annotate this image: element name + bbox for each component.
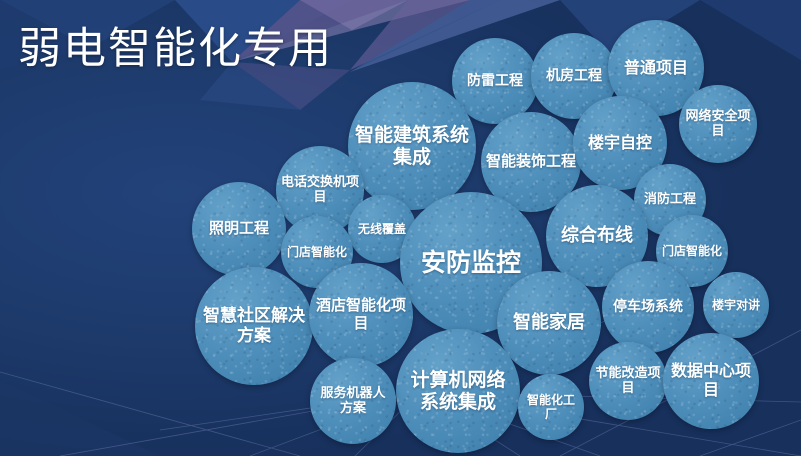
bubble-label: 智能建筑系统集成: [354, 124, 471, 169]
bubble-fuwu-jiqiren-fangan[interactable]: 服务机器人方案: [310, 358, 396, 444]
bubble-label: 机房工程: [535, 68, 612, 85]
bubble-label: 酒店智能化项目: [314, 297, 408, 332]
bubble-label: 无线覆盖: [352, 222, 412, 236]
bubble-label: 数据中心项目: [668, 362, 754, 400]
slide-canvas: 弱电智能化专用 防雷工程机房工程普通项目网络安全项目智能建筑系统集成智能装饰工程…: [0, 0, 801, 456]
bubble-tingchechang-xitong[interactable]: 停车场系统: [602, 261, 694, 353]
bubble-label: 停车场系统: [607, 299, 690, 316]
bubble-label: 电话交换机项目: [281, 175, 360, 206]
bubble-label: 普通项目: [613, 59, 699, 78]
bubble-label: 智能家居: [502, 312, 596, 333]
bubble-label: 计算机网络系统集成: [402, 369, 515, 414]
bubble-jisuanji-wangluo[interactable]: 计算机网络系统集成: [396, 329, 520, 453]
bubble-label: 消防工程: [638, 192, 702, 207]
bubble-label: 门店智能化: [660, 244, 724, 258]
bubble-label: 照明工程: [197, 220, 282, 238]
bubble-zhinenghua-gongchang[interactable]: 智能化工厂: [518, 374, 584, 440]
bubble-label: 防雷工程: [456, 73, 533, 90]
bubble-label: 楼宇自控: [578, 134, 663, 153]
bubble-zhineng-jianzhu-xitong[interactable]: 智能建筑系统集成: [348, 82, 476, 210]
bubble-label: 智能装饰工程: [486, 153, 576, 171]
bubble-shuju-zhongxin-xiangmu[interactable]: 数据中心项目: [663, 333, 759, 429]
page-title: 弱电智能化专用: [18, 26, 333, 73]
bubble-zhihui-shequ[interactable]: 智慧社区解决方案: [195, 267, 313, 385]
bubble-zhaoming-gongcheng[interactable]: 照明工程: [192, 182, 286, 276]
bubble-label: 门店智能化: [285, 245, 349, 259]
bubble-wangluo-anquan-xiangmu[interactable]: 网络安全项目: [679, 85, 757, 163]
bubble-label: 楼宇对讲: [707, 298, 765, 312]
bubble-label: 安防监控: [406, 248, 536, 278]
bubble-label: 服务机器人方案: [314, 386, 391, 417]
bubble-louyu-duijiang[interactable]: 楼宇对讲: [703, 272, 769, 338]
bubble-zhineng-jiaju[interactable]: 智能家居: [497, 271, 601, 375]
bubble-label: 综合布线: [551, 225, 643, 246]
bubble-label: 智慧社区解决方案: [200, 306, 307, 346]
bubble-jiudian-zhinenghua[interactable]: 酒店智能化项目: [309, 263, 413, 367]
bubble-jieneng-gaizao-xiangmu[interactable]: 节能改造项目: [589, 342, 667, 420]
bubble-label: 智能化工厂: [522, 393, 580, 421]
bubble-label: 节能改造项目: [593, 366, 663, 397]
bubble-label: 网络安全项目: [683, 109, 753, 140]
